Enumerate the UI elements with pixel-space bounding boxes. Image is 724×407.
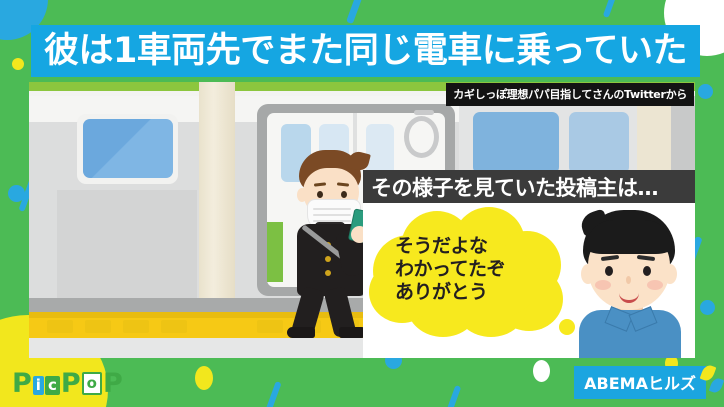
uniform-button	[325, 270, 331, 276]
picpop-letter-p1: P	[12, 370, 32, 397]
uniform-button	[325, 256, 331, 262]
headline-text: 彼は1車両先でまた同じ電車に乗っていた	[44, 34, 687, 69]
decor-dot-white-bottom	[533, 360, 550, 382]
tactile-paving-block	[123, 320, 149, 333]
picpop-letter-i: i	[33, 376, 44, 395]
inset-panel-header: その様子を見ていた投稿主は…	[363, 170, 695, 203]
man-fringe	[586, 220, 672, 254]
picpop-letter-p3: P	[103, 370, 123, 397]
thought-bubble-text: そうだよな わかってたぞ ありがとう	[395, 235, 555, 305]
inset-header-text: その様子を見ていた投稿主は…	[371, 172, 658, 202]
tactile-paving-block	[161, 320, 187, 333]
tactile-paving-block	[47, 320, 73, 333]
tactile-paving-block	[85, 320, 111, 333]
poster-portrait	[571, 206, 689, 358]
student-eye-left	[317, 191, 323, 198]
man-nose	[626, 276, 631, 284]
headline-banner: 彼は1車両先でまた同じ電車に乗っていた	[31, 25, 700, 77]
hanging-strap-icon	[404, 116, 439, 158]
picpop-letter-c: c	[45, 376, 60, 395]
student-shoe-back	[287, 327, 315, 338]
decor-slash-top-2	[603, 0, 620, 18]
decor-dot-blue-right-bottom	[700, 300, 715, 315]
train-window-right-2	[569, 112, 629, 174]
inset-panel-body: そうだよな わかってたぞ ありがとう	[363, 203, 695, 358]
picpop-letter-p2: P	[61, 370, 81, 397]
abema-leaf-blue-icon	[709, 377, 724, 395]
decor-dot-blue-right-top	[698, 84, 713, 99]
source-credit: カギしっぽ理想パパ目指してさんのTwitterから	[446, 83, 694, 106]
decor-dot-yellow-bottom	[195, 366, 213, 390]
face-mask-pleat	[313, 208, 351, 210]
picpop-logo: P i c P o P	[12, 370, 123, 397]
hanging-strap-bar	[414, 110, 434, 115]
decor-dot-blue-left	[8, 185, 25, 202]
abema-hills-logo: ABEMAヒルズ	[574, 366, 706, 399]
face-mask-pleat	[313, 214, 351, 216]
decor-dot-yellow-left	[12, 58, 24, 70]
platform-pillar	[199, 82, 235, 334]
pickup-news-card: 彼は1車両先でまた同じ電車に乗っていた カギしっぽ理想パパ目指してさんのTwit…	[0, 0, 724, 407]
train-side-panel-left	[57, 190, 197, 298]
train-window-right-1	[473, 112, 559, 174]
train-window-glass-left	[83, 119, 173, 178]
decor-slash-bottom-1	[264, 381, 281, 407]
thought-bubble: そうだよな わかってたぞ ありがとう	[367, 205, 567, 337]
picpop-letter-o: o	[82, 372, 102, 395]
decor-slash-bottom-2	[445, 385, 462, 407]
man-cheek-right	[647, 280, 663, 290]
man-cheek-left	[595, 280, 611, 290]
man-eye-right	[643, 266, 651, 276]
decor-slash-top-1	[346, 0, 365, 24]
student-eye-right	[341, 191, 347, 198]
inset-panel: その様子を見ていた投稿主は… そうだよな わかってたぞ ありがとう	[363, 170, 695, 358]
man-eye-left	[605, 266, 613, 276]
